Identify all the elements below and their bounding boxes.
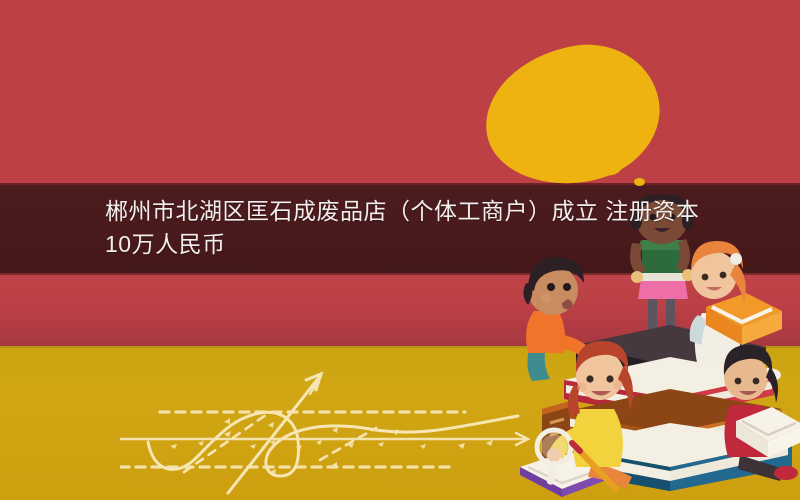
math-graph-doodle xyxy=(120,350,550,495)
dashed-helper-line-2 xyxy=(320,428,376,460)
banner-image: 郴州市北湖区匡石成废品店（个体工商户）成立 注册资本10万人民币 xyxy=(0,0,800,500)
yellow-blob-dot-small-icon xyxy=(634,178,645,186)
banner-headline: 郴州市北湖区匡石成废品店（个体工商户）成立 注册资本10万人民币 xyxy=(105,195,705,261)
background-band-top xyxy=(0,0,800,185)
